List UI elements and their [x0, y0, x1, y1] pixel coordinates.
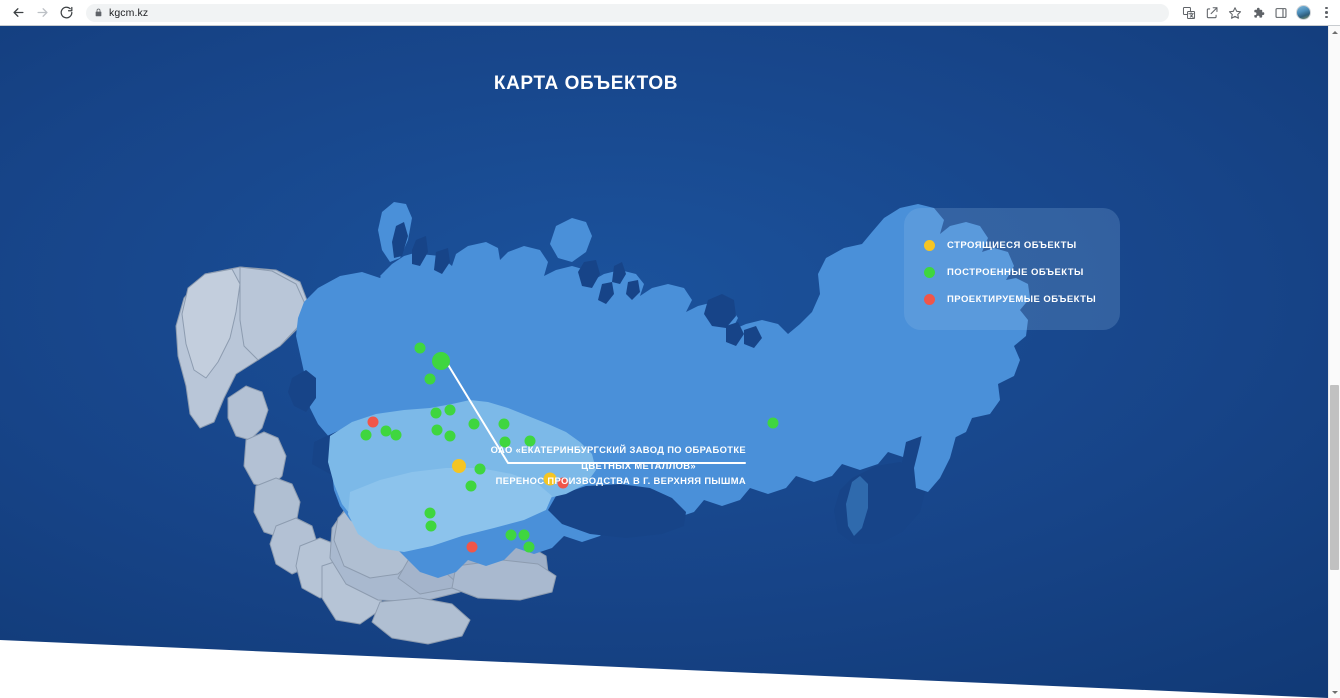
- map-callout: ОАО «ЕКАТЕРИНБУРГСКИЙ ЗАВОД ПО ОБРАБОТКЕ…: [446, 442, 746, 489]
- map-marker-built[interactable]: [431, 408, 442, 419]
- profile-avatar-icon[interactable]: [1292, 2, 1315, 24]
- legend-item-under-construction[interactable]: СТРОЯЩИЕСЯ ОБЪЕКТЫ: [924, 232, 1120, 259]
- map-marker-built[interactable]: [768, 418, 779, 429]
- legend-item-planned[interactable]: ПРОЕКТИРУЕМЫЕ ОБЪЕКТЫ: [924, 286, 1120, 313]
- map-marker-built[interactable]: [445, 431, 456, 442]
- map-marker-planned[interactable]: [368, 417, 379, 428]
- map-marker-built[interactable]: [432, 352, 450, 370]
- lock-icon: [94, 8, 103, 17]
- map-marker-built[interactable]: [361, 430, 372, 441]
- map-marker-built[interactable]: [391, 430, 402, 441]
- scroll-down-arrow[interactable]: [1329, 686, 1340, 698]
- reload-button[interactable]: [54, 1, 78, 25]
- forward-button[interactable]: [30, 1, 54, 25]
- map-legend: СТРОЯЩИЕСЯ ОБЪЕКТЫ ПОСТРОЕННЫЕ ОБЪЕКТЫ П…: [904, 208, 1120, 330]
- legend-item-built[interactable]: ПОСТРОЕННЫЕ ОБЪЕКТЫ: [924, 259, 1120, 286]
- page-viewport: КАРТА ОБЪЕКТОВ СТРОЯЩИЕСЯ ОБЪЕКТЫ ПОСТРО…: [0, 26, 1328, 698]
- kebab-dots: [1325, 7, 1328, 19]
- legend-label-built: ПОСТРОЕННЫЕ ОБЪЕКТЫ: [947, 267, 1084, 278]
- map-marker-built[interactable]: [469, 419, 480, 430]
- share-icon[interactable]: [1200, 2, 1223, 24]
- scroll-up-arrow[interactable]: [1329, 26, 1340, 38]
- callout-line-2: ЦВЕТНЫХ МЕТАЛЛОВ»: [446, 458, 746, 474]
- map-marker-built[interactable]: [506, 530, 517, 541]
- translate-icon[interactable]: [1177, 2, 1200, 24]
- callout-line-1: ОАО «ЕКАТЕРИНБУРГСКИЙ ЗАВОД ПО ОБРАБОТКЕ: [446, 442, 746, 458]
- bottom-diagonal-wedge: [0, 618, 1328, 698]
- browser-toolbar: kgcm.kz: [0, 0, 1340, 26]
- back-button[interactable]: [6, 1, 30, 25]
- legend-dot-red: [924, 294, 935, 305]
- browser-toolbar-icons: [1177, 2, 1338, 24]
- map-marker-built[interactable]: [445, 405, 456, 416]
- map-marker-built[interactable]: [499, 419, 510, 430]
- avatar: [1296, 5, 1311, 20]
- side-panel-icon[interactable]: [1269, 2, 1292, 24]
- scrollbar-thumb[interactable]: [1330, 385, 1339, 570]
- address-bar[interactable]: kgcm.kz: [86, 4, 1169, 22]
- map-marker-built[interactable]: [415, 343, 426, 354]
- kebab-menu-icon[interactable]: [1315, 2, 1338, 24]
- legend-dot-yellow: [924, 240, 935, 251]
- map-marker-built[interactable]: [519, 530, 530, 541]
- callout-line-3: ПЕРЕНОС ПРОИЗВОДСТВА В Г. ВЕРХНЯЯ ПЫШМА: [446, 473, 746, 489]
- map-marker-built[interactable]: [432, 425, 443, 436]
- page-title: КАРТА ОБЪЕКТОВ: [0, 73, 1172, 95]
- map-marker-built[interactable]: [425, 374, 436, 385]
- map-marker-planned[interactable]: [467, 542, 478, 553]
- map-marker-built[interactable]: [524, 542, 535, 553]
- extensions-puzzle-icon[interactable]: [1246, 2, 1269, 24]
- legend-label-planned: ПРОЕКТИРУЕМЫЕ ОБЪЕКТЫ: [947, 294, 1096, 305]
- legend-dot-green: [924, 267, 935, 278]
- url-text: kgcm.kz: [109, 7, 148, 19]
- map-svg: [0, 26, 1328, 698]
- objects-map[interactable]: [0, 26, 1328, 698]
- russia-taymyr: [550, 218, 592, 262]
- map-marker-built[interactable]: [426, 521, 437, 532]
- map-marker-built[interactable]: [381, 426, 392, 437]
- map-marker-built[interactable]: [425, 508, 436, 519]
- legend-label-under-construction: СТРОЯЩИЕСЯ ОБЪЕКТЫ: [947, 240, 1077, 251]
- bookmark-star-icon[interactable]: [1223, 2, 1246, 24]
- page-scrollbar[interactable]: [1328, 26, 1340, 698]
